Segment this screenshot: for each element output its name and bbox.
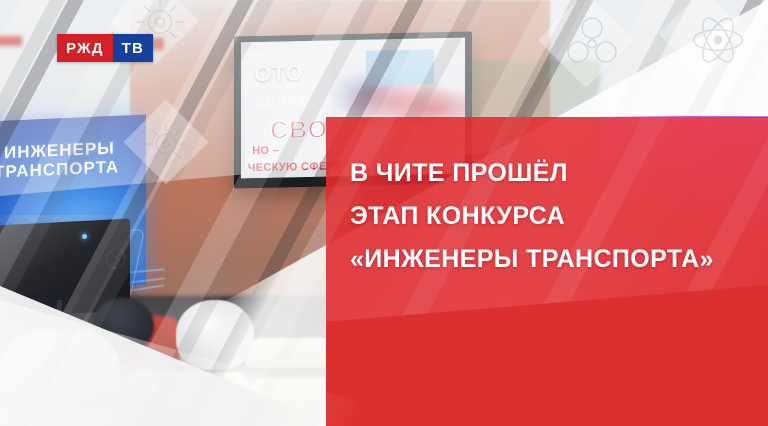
accent-streak xyxy=(0,36,22,46)
gear-icon xyxy=(140,118,192,170)
video-frame: ИНЖЕНЕРЫ ТРАНСПОРТА ОТО ДЕЛАТ СВО НО – Ч… xyxy=(0,0,768,426)
channel-logo: РЖД ТВ xyxy=(57,34,153,62)
headline-line-1: В ЧИТЕ ПРОШЁЛ xyxy=(350,152,768,195)
headline-line-3: «ИНЖЕНЕРЫ ТРАНСПОРТА» xyxy=(350,238,768,281)
headline-line-2: ЭТАП КОНКУРСА xyxy=(350,195,768,238)
channel-logo-tv: ТВ xyxy=(113,34,153,62)
bicycle-icon xyxy=(104,232,162,272)
molecule-icon xyxy=(560,12,624,76)
headline-text: В ЧИТЕ ПРОШЁЛ ЭТАП КОНКУРСА «ИНЖЕНЕРЫ ТР… xyxy=(350,152,768,281)
molecule-icon xyxy=(688,10,748,70)
headline-panel-seam xyxy=(600,116,768,118)
channel-logo-rzd: РЖД xyxy=(57,34,113,62)
